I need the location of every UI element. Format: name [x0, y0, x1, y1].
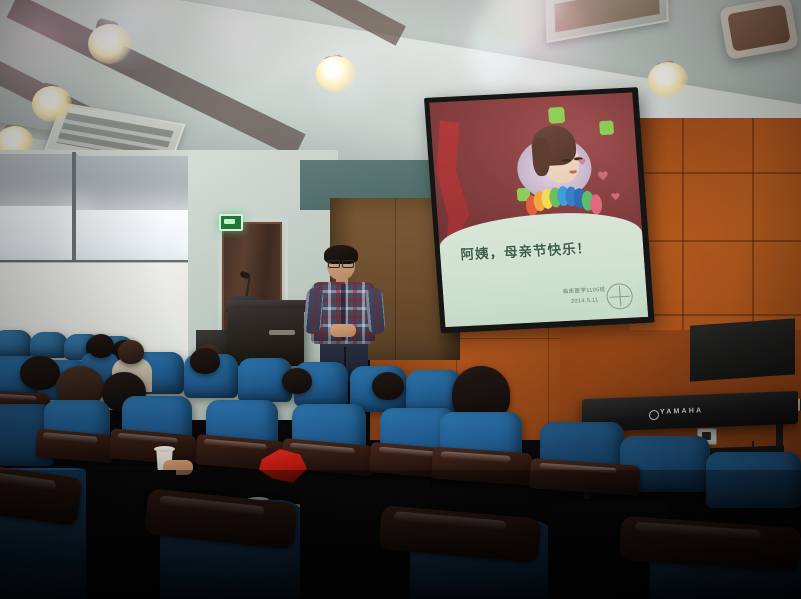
armrest-highlight [159, 495, 264, 516]
slide-credit: 临床医学1105班 2014.5.11 [562, 285, 606, 308]
slide-banner [438, 209, 649, 327]
audience-head [190, 348, 220, 374]
ceiling-lamp [316, 56, 356, 92]
audience-head [282, 368, 312, 394]
armrest-highlight [394, 511, 506, 530]
audience-head [20, 356, 60, 390]
podium-nameplate [269, 330, 295, 335]
window [0, 206, 76, 264]
window-mullion [72, 152, 76, 270]
armrest-highlight [635, 522, 761, 540]
audience-head [88, 334, 114, 358]
cup-rim [154, 446, 175, 452]
presenter-hands [330, 324, 356, 337]
armrest-highlight [290, 442, 355, 454]
presenter [300, 248, 388, 376]
audience-head [372, 372, 404, 400]
armrest-highlight [0, 393, 36, 401]
seat-back [706, 452, 801, 508]
ceiling-lamp [648, 62, 688, 98]
ceiling-lamp [32, 86, 72, 122]
clover-icon [548, 107, 565, 124]
panel-seam [620, 172, 801, 174]
presenter-arm-right [365, 287, 386, 334]
portrait-hair-side [532, 138, 552, 177]
armrest-highlight [539, 462, 616, 474]
seat-back [30, 332, 68, 358]
armrest-highlight [204, 438, 267, 450]
bouquet-petal [590, 194, 603, 215]
armrest-highlight [117, 432, 178, 444]
projection-screen: 阿姨，母亲节快乐！ 临床医学1105班 2014.5.11 [424, 87, 655, 333]
armrest-highlight [440, 451, 510, 463]
seat-armrest [529, 458, 641, 496]
armrest-highlight [43, 433, 98, 444]
window-blind [0, 154, 78, 210]
seat-armrest [431, 447, 533, 486]
seat-back [0, 330, 32, 358]
audience-head [118, 340, 144, 364]
photograph-lecture-hall: 阿姨，母亲节快乐！ 临床医学1105班 2014.5.11 [0, 0, 801, 599]
glasses-icon [328, 260, 354, 266]
slide-credit-date: 2014.5.11 [563, 295, 607, 308]
window [76, 210, 202, 266]
av-equipment-rack [690, 318, 795, 381]
slide-surface: 阿姨，母亲节快乐！ 临床医学1105班 2014.5.11 [429, 92, 648, 327]
exit-sign [219, 214, 243, 231]
clover-icon [600, 120, 615, 135]
window-blind [76, 156, 202, 216]
